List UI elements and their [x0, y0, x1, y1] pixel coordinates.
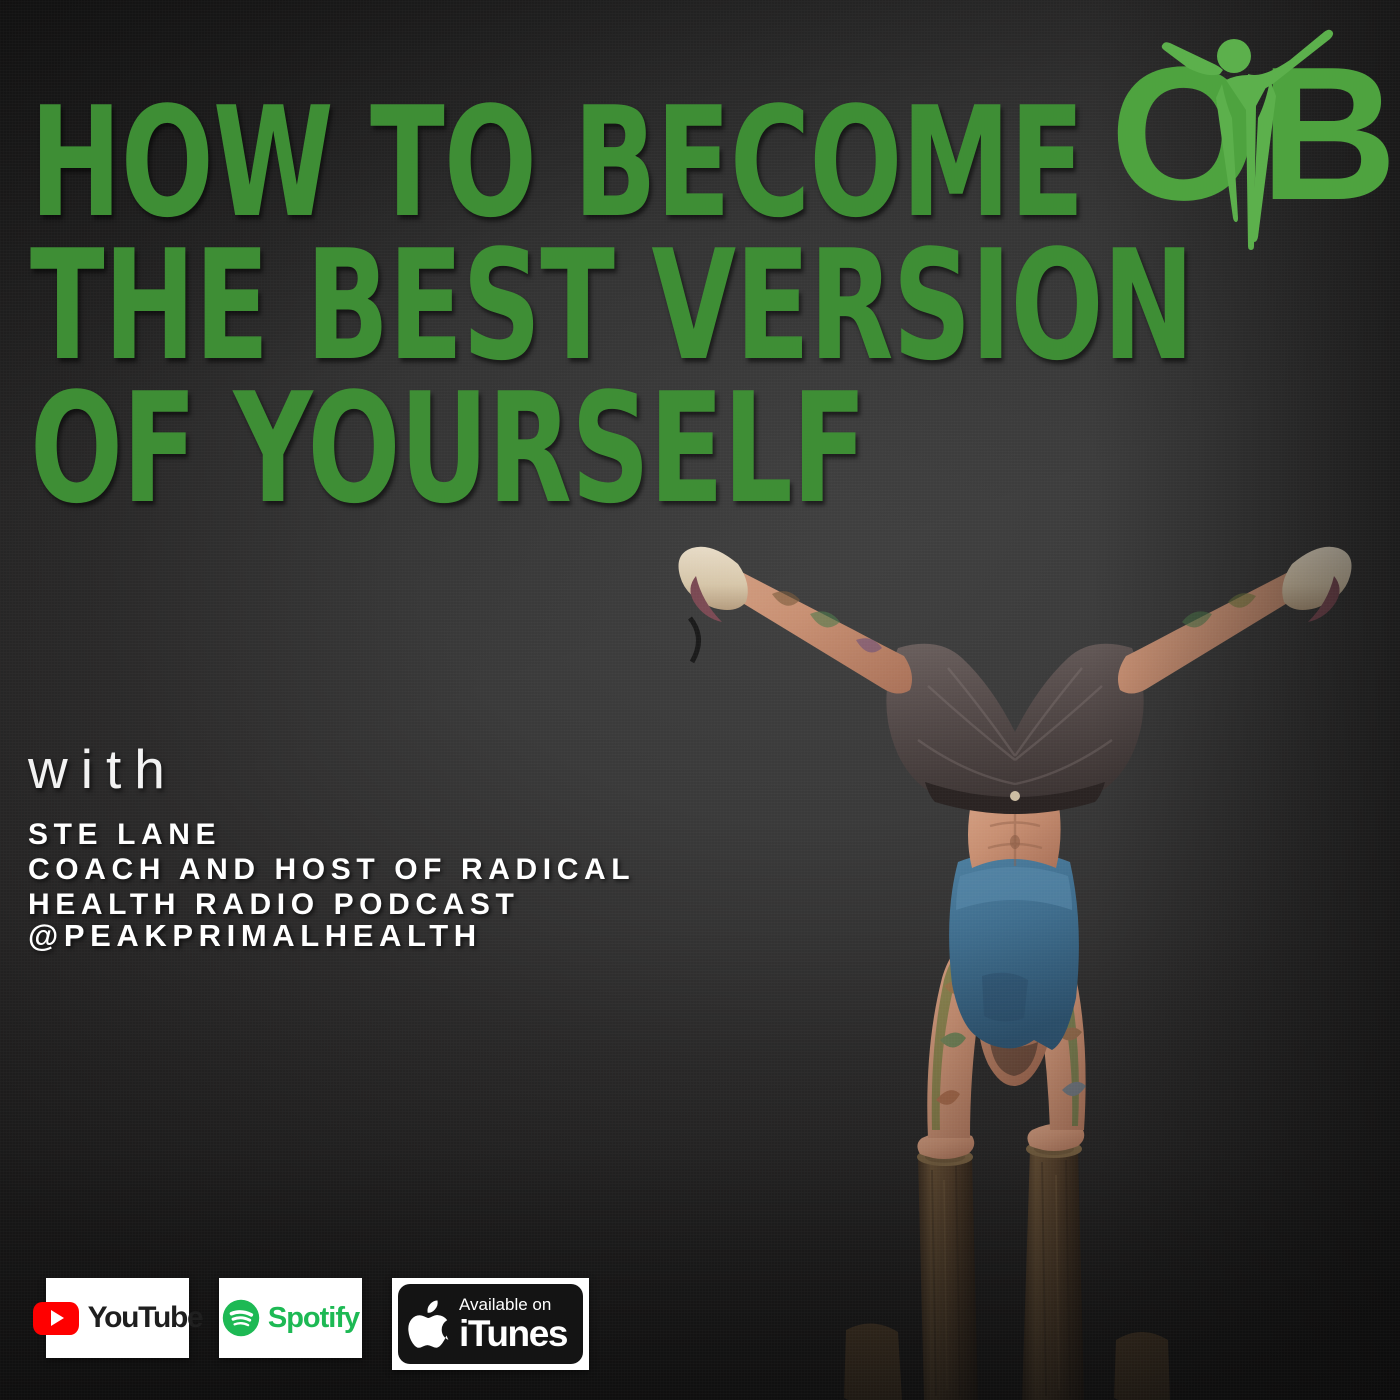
itunes-available-label: Available on	[459, 1296, 567, 1313]
guest-name: STE LANE	[28, 818, 635, 853]
badge-youtube[interactable]: YouTube	[46, 1278, 189, 1358]
title-line-3: OF YOURSELF	[30, 378, 846, 521]
youtube-label: YouTube	[88, 1301, 203, 1335]
spotify-label: Spotify	[268, 1302, 359, 1335]
title-line-2: THE BEST VERSION	[30, 235, 846, 378]
spotify-icon	[222, 1299, 260, 1337]
youtube-play-icon	[33, 1302, 79, 1335]
title-line-1: HOW TO BECOME	[30, 92, 846, 235]
apple-icon	[408, 1299, 450, 1349]
logo-letter-b: B	[1260, 28, 1397, 240]
with-label: with	[28, 742, 178, 797]
badge-spotify[interactable]: Spotify	[219, 1278, 362, 1358]
episode-title: HOW TO BECOME THE BEST VERSION OF YOURSE…	[30, 92, 1050, 521]
podcast-cover-artwork: O B HOW TO BECOME THE BEST VERSION OF YO…	[0, 0, 1400, 1400]
guest-social-handle: @PEAKPRIMALHEALTH	[28, 920, 482, 951]
itunes-label: iTunes	[459, 1315, 567, 1352]
guest-credits: STE LANE COACH AND HOST OF RADICAL HEALT…	[28, 818, 635, 922]
platform-badges: YouTube Spotify Available on iTunes	[46, 1278, 589, 1370]
badge-itunes[interactable]: Available on iTunes	[392, 1278, 589, 1370]
guest-role-line-1: COACH AND HOST OF RADICAL	[28, 853, 635, 888]
